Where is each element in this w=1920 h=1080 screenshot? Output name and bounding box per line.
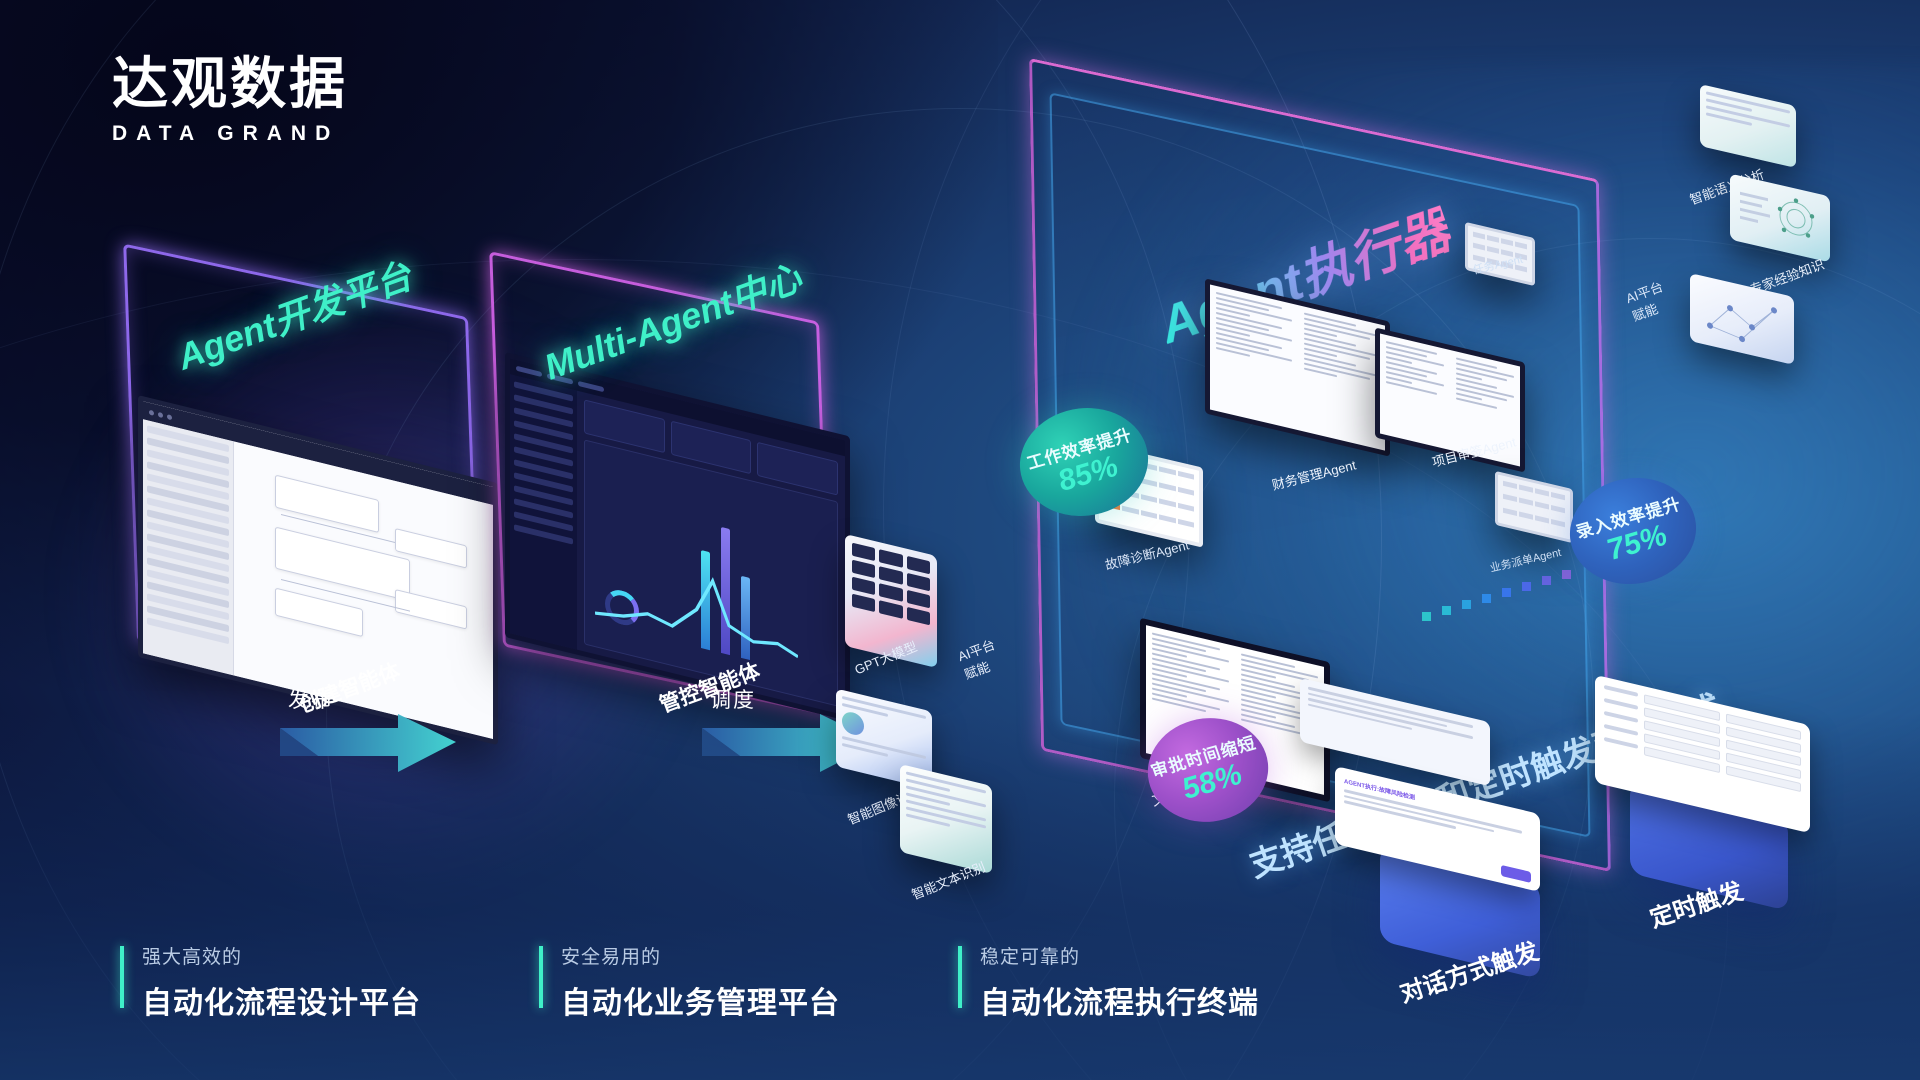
window-dot-icon	[167, 414, 172, 420]
bottom-caption-row: 强大高效的 自动化流程设计平台 安全易用的 自动化业务管理平台 稳定可靠的 自动…	[120, 942, 1259, 1022]
bottom-caption-management-platform: 安全易用的 自动化业务管理平台	[539, 942, 840, 1022]
bottom-caption-design-platform: 强大高效的 自动化流程设计平台	[120, 942, 421, 1022]
window-dot-icon	[149, 409, 154, 415]
poster-canvas: 达观数据 DATA GRAND	[0, 0, 1920, 1080]
dev-sidebar	[143, 419, 234, 675]
multi-agent-sidebar	[510, 374, 577, 649]
flow-arrow-publish: 发布	[278, 712, 458, 812]
brand-name-en: DATA GRAND	[112, 122, 348, 146]
brand-name-zh: 达观数据	[112, 55, 348, 114]
agent-execution-popup-button[interactable]	[1501, 865, 1531, 883]
multi-agent-center-screen[interactable]	[505, 352, 850, 637]
agent-dev-platform-screen[interactable]	[138, 395, 498, 657]
flow-arrow-publish-label: 发布	[288, 684, 334, 714]
flow-arrow-dispatch-label: 调度	[710, 684, 756, 714]
bottom-caption-execution-terminal: 稳定可靠的 自动化流程执行终端	[958, 942, 1259, 1022]
window-dot-icon	[158, 411, 163, 417]
brand-logo: 达观数据 DATA GRAND	[112, 55, 348, 146]
